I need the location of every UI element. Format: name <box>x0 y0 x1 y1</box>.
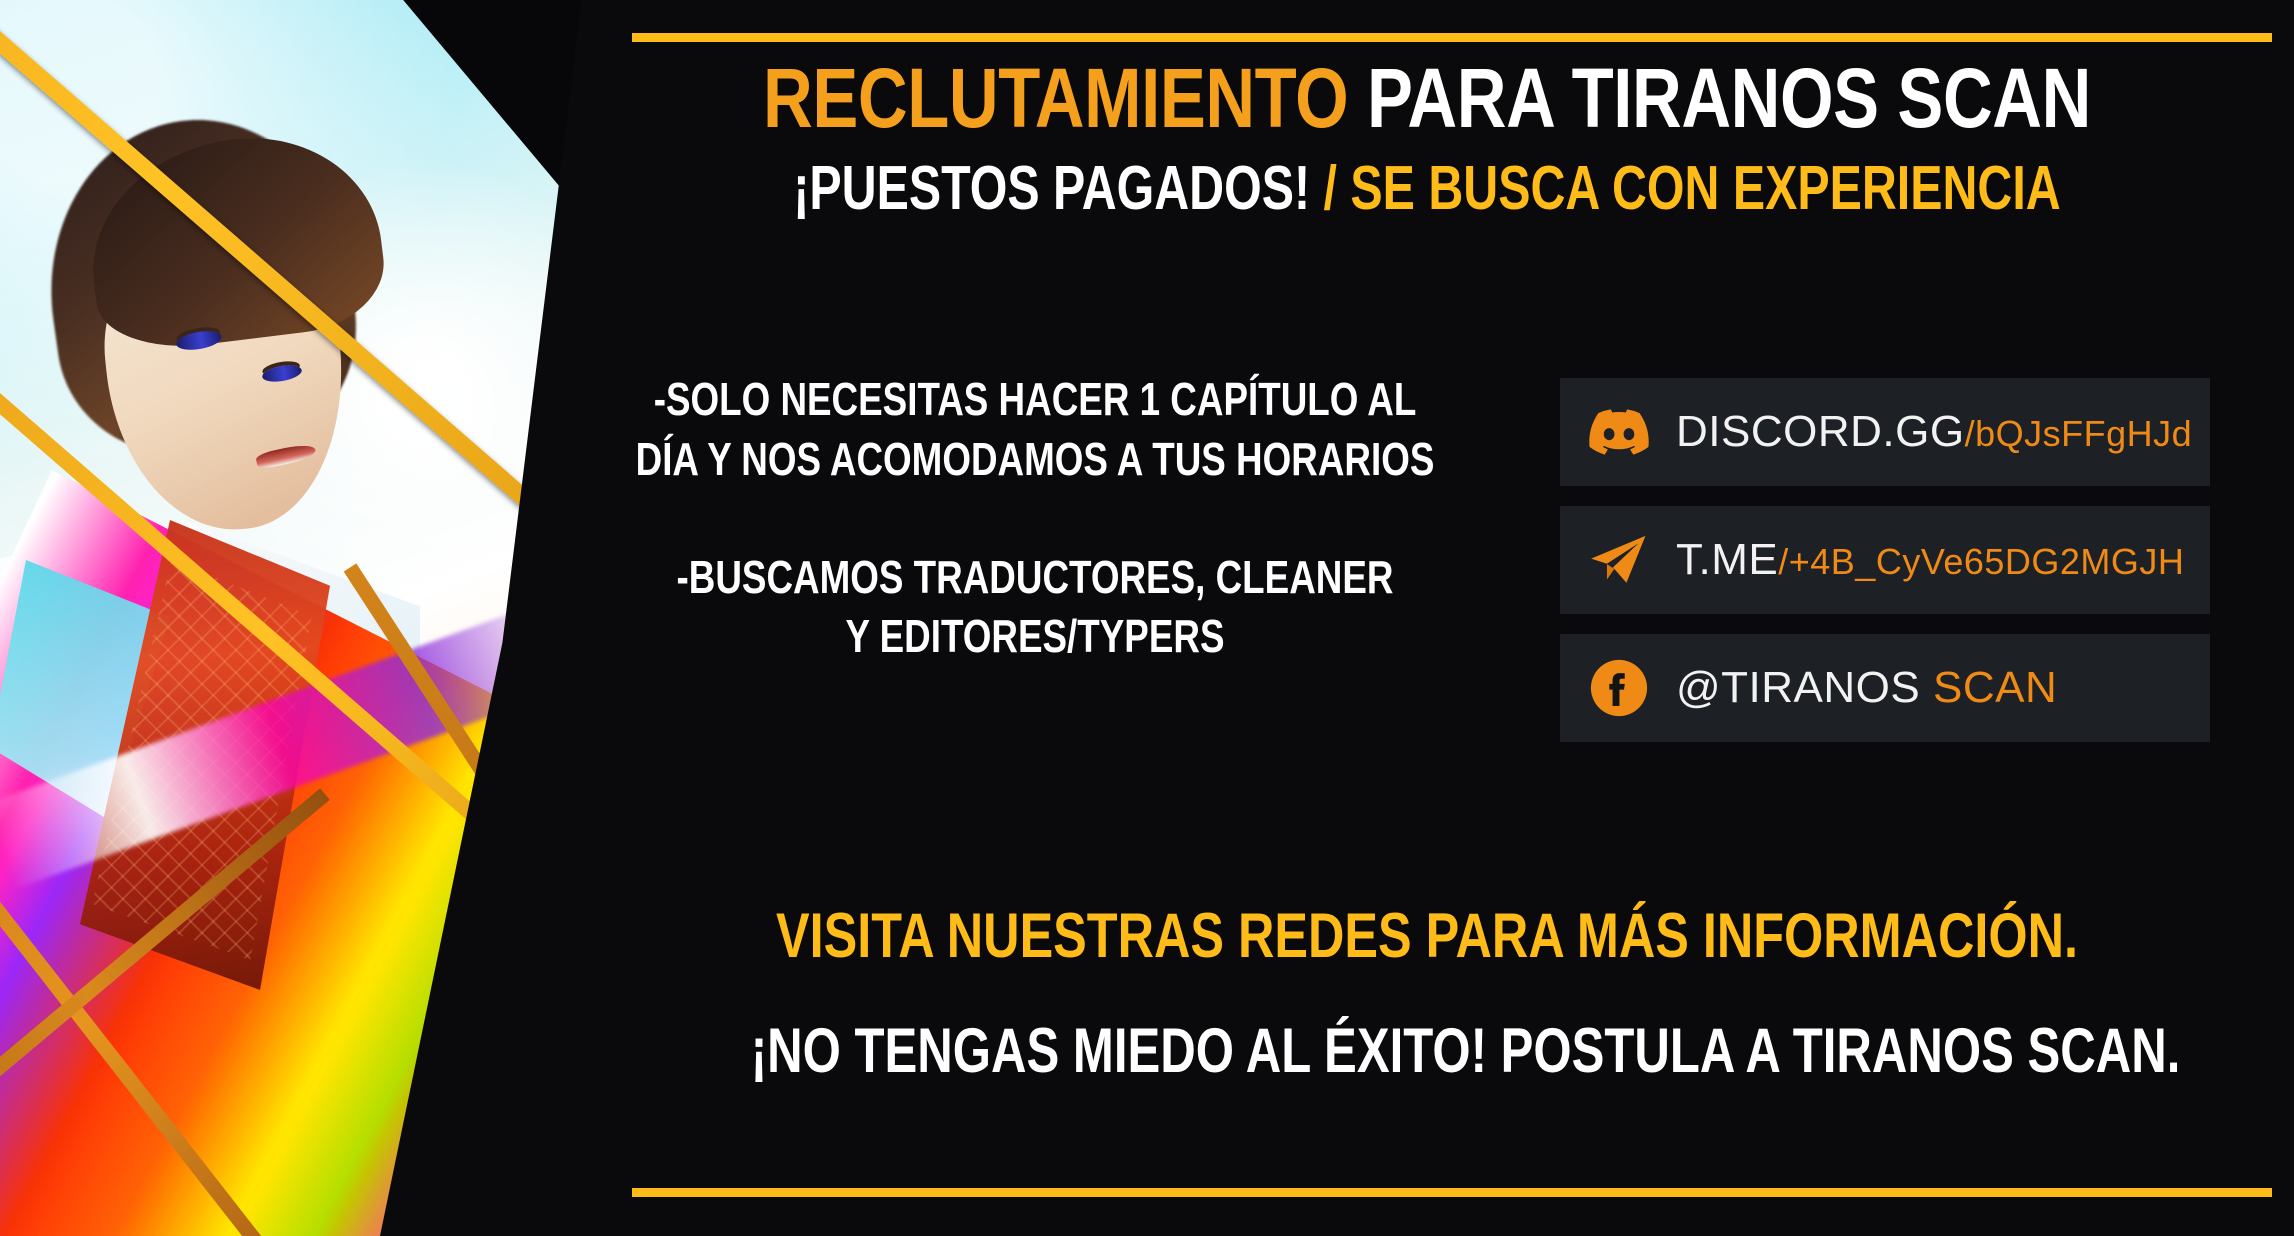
call-to-action: VISITA NUESTRAS REDES PARA MÁS INFORMACI… <box>560 905 2294 1083</box>
discord-text: DISCORD.GG/bQJsFFgHJd <box>1676 407 2192 457</box>
facebook-text: @TIRANOS SCAN <box>1676 663 2057 713</box>
gold-rule-bottom <box>632 1188 2272 1197</box>
content-panel: RECLUTAMIENTO PARA TIRANOS SCAN ¡PUESTOS… <box>560 0 2294 1236</box>
telegram-invite-code: /+4B_CyVe65DG2MGJH <box>1778 541 2184 582</box>
facebook-handle: @TIRANOS <box>1676 663 1920 712</box>
subtitle-experience: / SE BUSCA CON EXPERIENCIA <box>1310 154 2061 223</box>
contact-card-telegram[interactable]: T.ME/+4B_CyVe65DG2MGJH <box>1560 506 2210 614</box>
headline-highlight: RECLUTAMIENTO <box>763 51 1348 145</box>
telegram-text: T.ME/+4B_CyVe65DG2MGJH <box>1676 535 2184 585</box>
requirements-list: -SOLO NECESITAS HACER 1 CAPÍTULO AL DÍA … <box>520 370 1550 667</box>
discord-domain: DISCORD.GG <box>1676 407 1965 456</box>
telegram-domain: T.ME <box>1676 535 1778 584</box>
cta-line-visit-networks: VISITA NUESTRAS REDES PARA MÁS INFORMACI… <box>733 905 2120 968</box>
page-title: RECLUTAMIENTO PARA TIRANOS SCAN <box>716 56 2138 140</box>
contact-card-discord[interactable]: DISCORD.GG/bQJsFFgHJd <box>1560 378 2210 486</box>
telegram-icon <box>1588 529 1650 591</box>
page-subtitle: ¡PUESTOS PAGADOS! / SE BUSCA CON EXPERIE… <box>751 158 2104 220</box>
contact-cards: DISCORD.GG/bQJsFFgHJd T.ME/+4B_CyVe65DG2… <box>1560 378 2210 762</box>
list-item: DÍA Y NOS ACOMODAMOS A TUS HORARIOS <box>623 430 1447 490</box>
list-item: Y EDITORES/TYPERS <box>623 607 1447 667</box>
facebook-handle-suffix: SCAN <box>1920 663 2057 712</box>
facebook-icon <box>1588 657 1650 719</box>
contact-card-facebook[interactable]: @TIRANOS SCAN <box>1560 634 2210 742</box>
list-item: -BUSCAMOS TRADUCTORES, CLEANER <box>623 548 1447 608</box>
gold-rule-top <box>632 33 2272 42</box>
discord-invite-code: /bQJsFFgHJd <box>1965 413 2193 454</box>
cta-line-apply: ¡NO TENGAS MIEDO AL ÉXITO! POSTULA A TIR… <box>751 1020 2104 1083</box>
headline-rest: PARA TIRANOS SCAN <box>1348 51 2091 145</box>
recruitment-banner: RECLUTAMIENTO PARA TIRANOS SCAN ¡PUESTOS… <box>0 0 2294 1236</box>
subtitle-paid-positions: ¡PUESTOS PAGADOS! <box>793 154 1310 223</box>
list-spacer <box>520 490 1550 548</box>
list-item: -SOLO NECESITAS HACER 1 CAPÍTULO AL <box>623 370 1447 430</box>
discord-icon <box>1588 401 1650 463</box>
